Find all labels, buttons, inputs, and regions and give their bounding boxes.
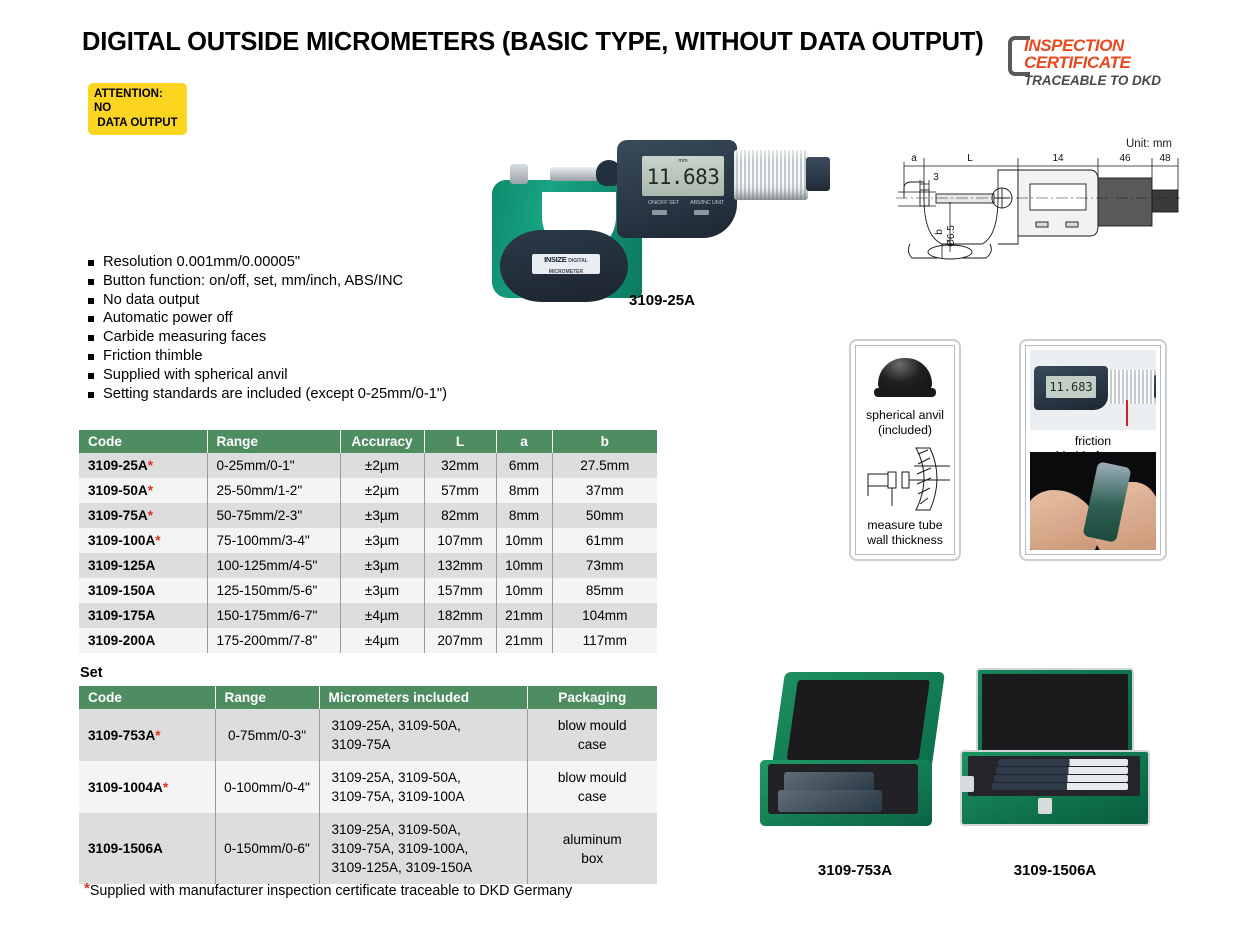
spec-cell-range: 75-100mm/3-4" <box>207 528 340 553</box>
anvil-base-icon <box>874 388 936 397</box>
callout-spherical-anvil: spherical anvil (included) measure tube … <box>849 339 961 561</box>
spec-cell-range: 50-75mm/2-3" <box>207 503 340 528</box>
feature-item: Carbide measuring faces <box>88 328 447 347</box>
spec-cell-code: 3109-100A* <box>79 528 207 553</box>
button-label-absinc-unit: ABS/INC UNIT <box>690 200 724 206</box>
table-row: 3109-753A*0-75mm/0-3"3109-25A, 3109-50A,… <box>79 709 657 761</box>
spec-cell-code: 3109-25A* <box>79 453 207 478</box>
footnote-text: Supplied with manufacturer inspection ce… <box>90 883 572 899</box>
included-line: 3109-75A, 3109-100A <box>332 787 523 806</box>
spec-cell-b: 117mm <box>552 628 657 653</box>
table-row: 3109-100A*75-100mm/3-4"±3µm107mm10mm61mm <box>79 528 657 553</box>
case-micrometer-row-1 <box>998 759 1128 766</box>
set-cell-packaging: blow mouldcase <box>527 709 657 761</box>
case-photo-1506a <box>960 668 1170 833</box>
spec-header-code: Code <box>79 430 207 453</box>
spec-cell-range: 125-150mm/5-6" <box>207 578 340 603</box>
specification-table: CodeRangeAccuracyLab 3109-25A*0-25mm/0-1… <box>79 430 657 653</box>
table-row: 3109-75A*50-75mm/2-3"±3µm82mm8mm50mm <box>79 503 657 528</box>
certificate-line3: TRACEABLE TO DKD <box>1024 73 1161 88</box>
technical-drawing: Unit: mm <box>890 140 1180 270</box>
spec-cell-code: 3109-125A <box>79 553 207 578</box>
table-row: 3109-175A150-175mm/6-7"±4µm182mm21mm104m… <box>79 603 657 628</box>
feature-list: Resolution 0.001mm/0.00005"Button functi… <box>88 253 447 403</box>
certificate-line2: CERTIFICATE <box>1024 53 1130 73</box>
set-cell-included: 3109-25A, 3109-50A,3109-75A, 3109-100A,3… <box>319 813 527 884</box>
spec-table-header-row: CodeRangeAccuracyLab <box>79 430 657 453</box>
set-header-1: Range <box>215 686 319 709</box>
spec-cell-code: 3109-150A <box>79 578 207 603</box>
green-case-base <box>760 760 932 826</box>
packaging-line: box <box>532 849 654 868</box>
spec-header-range: Range <box>207 430 340 453</box>
feature-item: Button function: on/off, set, mm/inch, A… <box>88 272 447 291</box>
packaging-line: case <box>532 787 654 806</box>
set-header-0: Code <box>79 686 215 709</box>
packaging-line: case <box>532 735 654 754</box>
spec-cell-b: 85mm <box>552 578 657 603</box>
spec-cell-range: 0-25mm/0-1" <box>207 453 340 478</box>
aluminum-case-base <box>960 750 1150 826</box>
brand-name: INSIZE <box>544 255 566 264</box>
spec-cell-a: 21mm <box>496 603 552 628</box>
spec-cell-b: 50mm <box>552 503 657 528</box>
spec-cell-range: 100-125mm/4-5" <box>207 553 340 578</box>
packaging-line: blow mould <box>532 768 654 787</box>
button-label-onoff-set: ON/OFF SET <box>648 200 679 206</box>
spec-cell-a: 10mm <box>496 528 552 553</box>
spec-cell-a: 21mm <box>496 628 552 653</box>
anvil-caption-line2: (included) <box>856 423 954 438</box>
green-case-base-foam <box>768 764 918 814</box>
code-asterisk: * <box>148 508 153 523</box>
included-line: 3109-125A, 3109-150A <box>332 858 523 877</box>
thimble-pointer-line <box>1126 400 1128 426</box>
green-case-lid-foam <box>787 680 930 760</box>
attention-line1: ATTENTION: NO <box>94 88 163 114</box>
spec-cell-code: 3109-175A <box>79 603 207 628</box>
set-cell-code: 3109-1506A <box>79 813 215 884</box>
included-line: 3109-75A, 3109-100A, <box>332 839 523 858</box>
green-case-lid <box>771 672 945 772</box>
feature-item: Resolution 0.001mm/0.00005" <box>88 253 447 272</box>
unit-label: Unit: mm <box>1126 138 1172 150</box>
spec-cell-b: 27.5mm <box>552 453 657 478</box>
hand-operation-photo <box>1030 452 1156 550</box>
callout-thimble-inner: 11.683 friction thimble for one hand ope… <box>1025 345 1161 555</box>
spec-cell-L: 207mm <box>424 628 496 653</box>
spec-cell-accuracy: ±2µm <box>340 453 424 478</box>
set-header-2: Micrometers included <box>319 686 527 709</box>
thimble-caption-line1: friction <box>1026 434 1160 449</box>
friction-thimble <box>734 150 808 200</box>
set-cell-range: 0-100mm/0-4" <box>215 761 319 813</box>
aluminum-case-tray <box>968 756 1140 796</box>
set-section-label: Set <box>80 665 103 681</box>
spec-header-accuracy: Accuracy <box>340 430 424 453</box>
spec-cell-b: 73mm <box>552 553 657 578</box>
code-asterisk: * <box>163 780 168 795</box>
set-table-header-row: CodeRangeMicrometers includedPackaging <box>79 686 657 709</box>
spec-header-l: L <box>424 430 496 453</box>
spec-cell-accuracy: ±3µm <box>340 503 424 528</box>
spec-cell-L: 182mm <box>424 603 496 628</box>
table-row: 3109-25A*0-25mm/0-1"±2µm32mm6mm27.5mm <box>79 453 657 478</box>
spec-header-b: b <box>552 430 657 453</box>
spec-cell-accuracy: ±3µm <box>340 553 424 578</box>
anvil-caption-line4: wall thickness <box>856 533 954 548</box>
dim-3: 3 <box>933 172 939 183</box>
spec-cell-a: 6mm <box>496 453 552 478</box>
case-photo-753a <box>760 672 950 832</box>
set-cell-range: 0-150mm/0-6" <box>215 813 319 884</box>
brand-logo: INSIZE DIGITAL MICROMETER <box>532 254 600 274</box>
spec-cell-accuracy: ±2µm <box>340 478 424 503</box>
dim-14: 14 <box>1052 153 1064 164</box>
aluminum-case-lid <box>976 668 1134 760</box>
included-line: 3109-25A, 3109-50A, <box>332 716 523 735</box>
dim-dia: Ø6.5 <box>946 225 957 247</box>
packaging-line: aluminum <box>532 830 654 849</box>
set-table-body: 3109-753A*0-75mm/0-3"3109-25A, 3109-50A,… <box>79 709 657 884</box>
lcd-unit-label: mm <box>642 158 724 164</box>
spec-cell-code: 3109-200A <box>79 628 207 653</box>
feature-item: Automatic power off <box>88 309 447 328</box>
case-latch-center <box>1038 798 1052 814</box>
dim-a: a <box>911 153 917 164</box>
spec-cell-accuracy: ±3µm <box>340 528 424 553</box>
spec-cell-a: 8mm <box>496 503 552 528</box>
ratchet-stop <box>806 157 830 191</box>
case-micrometer-2 <box>778 790 882 812</box>
spec-cell-code: 3109-75A* <box>79 503 207 528</box>
feature-item: No data output <box>88 291 447 310</box>
set-header-3: Packaging <box>527 686 657 709</box>
dim-L: L <box>967 153 973 164</box>
spec-cell-b: 37mm <box>552 478 657 503</box>
set-cell-code: 3109-1004A* <box>79 761 215 813</box>
page-title: DIGITAL OUTSIDE MICROMETERS (BASIC TYPE,… <box>82 28 984 57</box>
spec-table-body: 3109-25A*0-25mm/0-1"±2µm32mm6mm27.5mm310… <box>79 453 657 653</box>
code-asterisk: * <box>148 458 153 473</box>
table-row: 3109-150A125-150mm/5-6"±3µm157mm10mm85mm <box>79 578 657 603</box>
callout-friction-thimble: 11.683 friction thimble for one hand ope… <box>1019 339 1167 561</box>
included-line: 3109-25A, 3109-50A, <box>332 768 523 787</box>
lcd-value: 11.683 <box>647 165 720 189</box>
attention-badge: ATTENTION: NO DATA OUTPUT <box>88 83 187 135</box>
anvil-caption-line1: spherical anvil <box>856 408 954 423</box>
feature-item: Supplied with spherical anvil <box>88 366 447 385</box>
code-asterisk: * <box>148 483 153 498</box>
onoff-set-button <box>652 210 667 215</box>
spec-cell-a: 8mm <box>496 478 552 503</box>
dim-46: 46 <box>1119 153 1131 164</box>
spec-cell-accuracy: ±3µm <box>340 578 424 603</box>
set-cell-packaging: blow mouldcase <box>527 761 657 813</box>
case-micrometer-row-2 <box>996 767 1128 774</box>
lcd-display: mm 11.683 <box>642 156 724 196</box>
inspection-certificate-logo: INSPECTION CERTIFICATE TRACEABLE TO DKD <box>1008 34 1168 96</box>
feature-item: Friction thimble <box>88 347 447 366</box>
measuring-anvil <box>510 164 528 184</box>
code-asterisk: * <box>155 533 160 548</box>
absinc-unit-button <box>694 210 709 215</box>
spec-cell-code: 3109-50A* <box>79 478 207 503</box>
attention-line2: DATA OUTPUT <box>94 116 181 130</box>
feature-item: Setting standards are included (except 0… <box>88 385 447 404</box>
set-cell-included: 3109-25A, 3109-50A,3109-75A <box>319 709 527 761</box>
spec-cell-L: 157mm <box>424 578 496 603</box>
thimble-photo-lcd: 11.683 <box>1046 376 1096 398</box>
table-row: 3109-125A100-125mm/4-5"±3µm132mm10mm73mm <box>79 553 657 578</box>
spec-cell-b: 61mm <box>552 528 657 553</box>
thimble-photo-thimble <box>1108 370 1156 404</box>
set-cell-included: 3109-25A, 3109-50A,3109-75A, 3109-100A <box>319 761 527 813</box>
set-table: CodeRangeMicrometers includedPackaging 3… <box>79 686 657 884</box>
dim-48: 48 <box>1159 153 1171 164</box>
product-photo-caption: 3109-25A <box>462 292 862 309</box>
case-latch-left <box>960 776 974 792</box>
case-caption-753a: 3109-753A <box>760 862 950 879</box>
spec-cell-accuracy: ±4µm <box>340 628 424 653</box>
table-row: 3109-1004A*0-100mm/0-4"3109-25A, 3109-50… <box>79 761 657 813</box>
case-micrometer-1 <box>784 772 874 792</box>
table-row: 3109-50A*25-50mm/1-2"±2µm57mm8mm37mm <box>79 478 657 503</box>
case-micrometer-row-3 <box>994 775 1128 782</box>
case-micrometer-row-4 <box>992 783 1128 790</box>
spec-cell-L: 107mm <box>424 528 496 553</box>
thimble-photo-ratchet <box>1154 375 1156 398</box>
packaging-line: blow mould <box>532 716 654 735</box>
spec-cell-L: 57mm <box>424 478 496 503</box>
spec-cell-range: 175-200mm/7-8" <box>207 628 340 653</box>
case-caption-1506a: 3109-1506A <box>960 862 1150 879</box>
spec-cell-a: 10mm <box>496 553 552 578</box>
spec-cell-range: 150-175mm/6-7" <box>207 603 340 628</box>
set-cell-code: 3109-753A* <box>79 709 215 761</box>
spec-cell-L: 132mm <box>424 553 496 578</box>
spec-cell-b: 104mm <box>552 603 657 628</box>
spec-cell-range: 25-50mm/1-2" <box>207 478 340 503</box>
set-cell-packaging: aluminumbox <box>527 813 657 884</box>
spec-header-a: a <box>496 430 552 453</box>
micrometer-dimension-svg: a L 14 46 48 3 b Ø6.5 <box>890 140 1180 270</box>
anvil-caption-line3: measure tube <box>856 518 954 533</box>
table-row: 3109-1506A0-150mm/0-6"3109-25A, 3109-50A… <box>79 813 657 884</box>
spec-cell-L: 82mm <box>424 503 496 528</box>
code-asterisk: * <box>155 728 160 743</box>
spec-cell-accuracy: ±4µm <box>340 603 424 628</box>
spec-cell-a: 10mm <box>496 578 552 603</box>
thimble-photo: 11.683 <box>1030 350 1156 430</box>
product-photo-main: INSIZE DIGITAL MICROMETER mm 11.683 ON/O… <box>462 132 862 312</box>
included-line: 3109-25A, 3109-50A, <box>332 820 523 839</box>
tube-wall-diagram-svg <box>858 444 962 516</box>
dim-b: b <box>934 229 945 235</box>
spec-cell-L: 32mm <box>424 453 496 478</box>
table-row: 3109-200A175-200mm/7-8"±4µm207mm21mm117m… <box>79 628 657 653</box>
aluminum-case-lid-foam <box>982 674 1128 754</box>
set-cell-range: 0-75mm/0-3" <box>215 709 319 761</box>
spherical-anvil-icon <box>878 358 932 392</box>
included-line: 3109-75A <box>332 735 523 754</box>
footnote: *Supplied with manufacturer inspection c… <box>84 880 572 899</box>
callout-anvil-inner: spherical anvil (included) measure tube … <box>855 345 955 555</box>
